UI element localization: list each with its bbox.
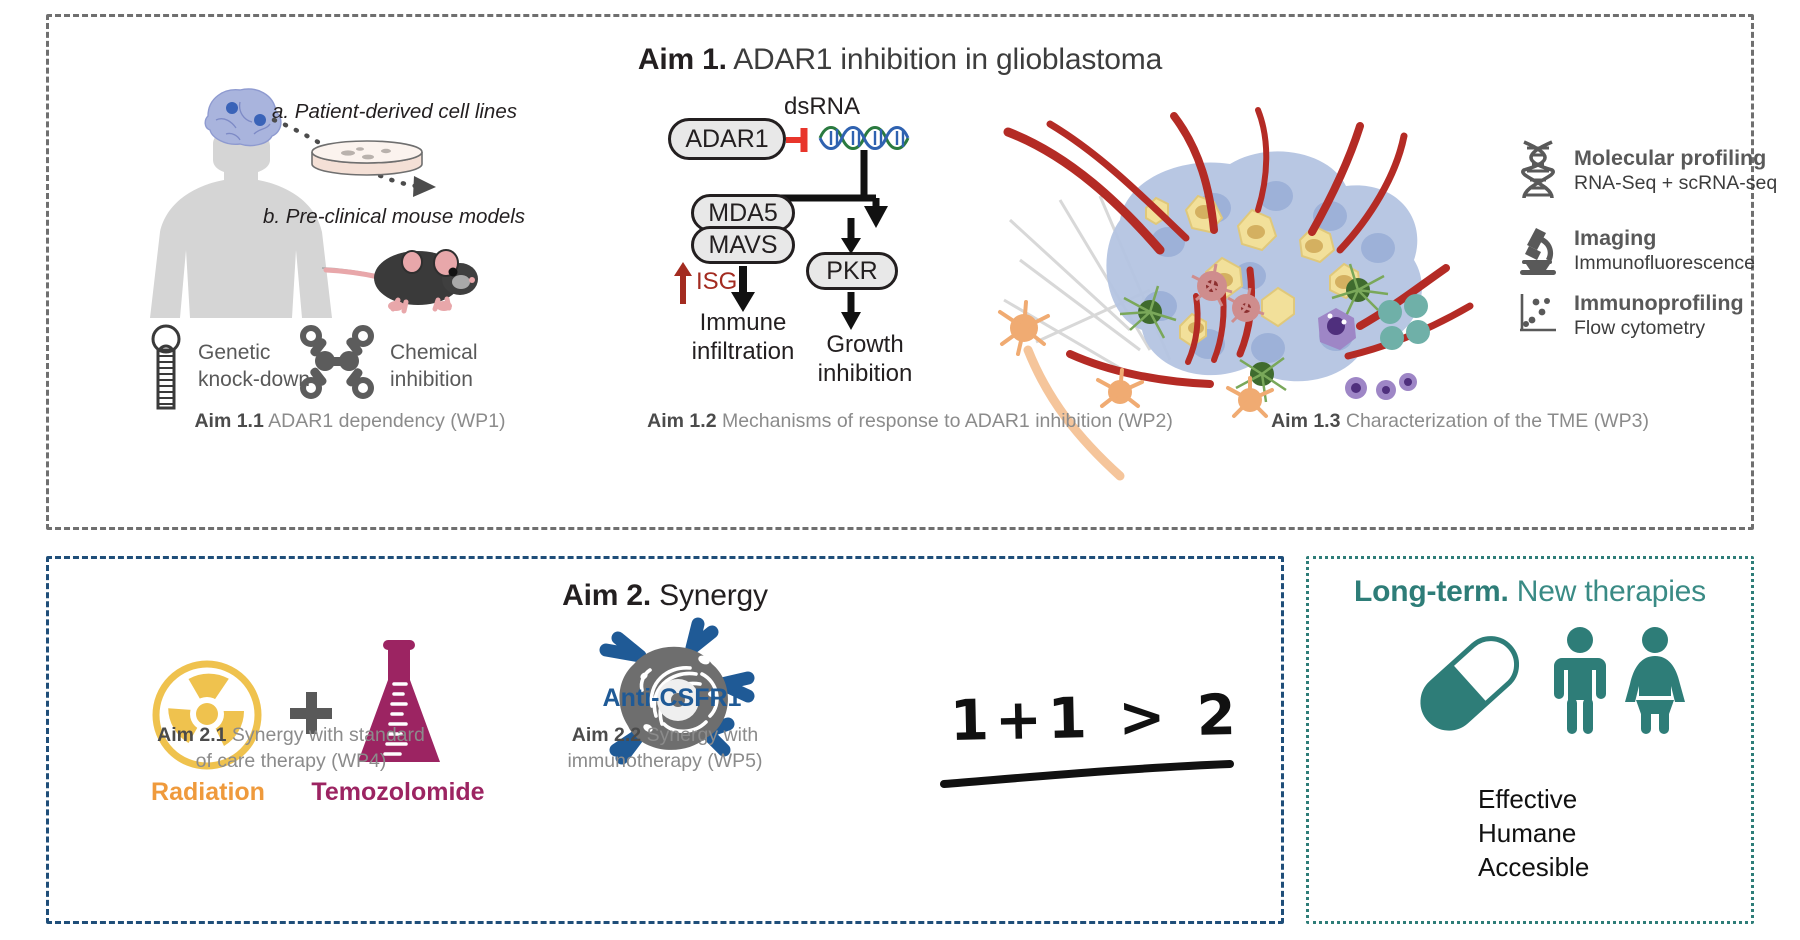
caption-aim-2-2: Aim 2.2 Synergy with immunotherapy (WP5) bbox=[500, 722, 830, 774]
panel-aim2-title-rest: Synergy bbox=[651, 579, 768, 612]
female-figure-icon bbox=[1622, 626, 1688, 736]
mouse-icon bbox=[320, 238, 480, 310]
panel-longterm-title-rest: New therapies bbox=[1509, 575, 1706, 608]
arrow-pkr-to-growth bbox=[836, 292, 868, 332]
pill-capsule-icon bbox=[1414, 636, 1524, 732]
label-radiation: Radiation bbox=[110, 778, 306, 807]
node-mavs: MAVS bbox=[691, 226, 795, 264]
profiling-subtitle-molecular: RNA-Seq + scRNA-seq bbox=[1574, 171, 1777, 195]
profiling-row-immunoprofiling: Immunoprofiling Flow cytometry bbox=[1518, 290, 1744, 340]
method-label-genetic-knockdown: Genetic knock-down bbox=[198, 339, 310, 393]
label-temozolomide: Temozolomide bbox=[290, 778, 506, 807]
panel-aim1-title: Aim 1. ADAR1 inhibition in glioblastoma bbox=[49, 43, 1751, 77]
arrow-to-pkr bbox=[836, 218, 868, 256]
caption-aim-1-2: Aim 1.2 Mechanisms of response to ADAR1 … bbox=[600, 408, 1220, 434]
profiling-title-imaging: Imaging bbox=[1574, 226, 1755, 251]
label-dsrna: dsRNA bbox=[742, 92, 902, 121]
hairpin-rna-icon bbox=[148, 318, 184, 410]
panel-aim1-title-rest: ADAR1 inhibition in glioblastoma bbox=[727, 43, 1162, 76]
label-isg: ISG bbox=[696, 268, 737, 296]
petri-dish-icon bbox=[308, 140, 426, 188]
longterm-word-effective: Effective bbox=[1478, 782, 1589, 816]
dna-helix-icon bbox=[1518, 140, 1558, 200]
caption-aim-2-1: Aim 2.1 Synergy with standard of care th… bbox=[96, 722, 486, 774]
caption-aim-1-1: Aim 1.1 ADAR1 dependency (WP1) bbox=[60, 408, 640, 434]
panel-aim1-title-bold: Aim 1. bbox=[638, 43, 727, 76]
profiling-row-imaging: Imaging Immunofluorescence bbox=[1518, 224, 1755, 276]
profiling-subtitle-imaging: Immunofluorescence bbox=[1574, 251, 1755, 275]
panel-longterm-title: Long-term. New therapies bbox=[1309, 575, 1751, 609]
microscope-icon bbox=[1518, 224, 1558, 276]
equation-underline bbox=[940, 758, 1240, 790]
flow-cytometry-icon bbox=[1518, 290, 1558, 340]
panel-aim2-title-bold: Aim 2. bbox=[562, 579, 651, 612]
profiling-title-immunoprofiling: Immunoprofiling bbox=[1574, 291, 1744, 316]
longterm-word-accesible: Accesible bbox=[1478, 850, 1589, 884]
profiling-title-molecular: Molecular profiling bbox=[1574, 146, 1777, 171]
equation-synergy: 1+1 > 2 bbox=[949, 683, 1242, 754]
method-label-chemical-inhibition: Chemical inhibition bbox=[390, 339, 478, 393]
longterm-word-humane: Humane bbox=[1478, 816, 1589, 850]
node-pkr: PKR bbox=[806, 252, 898, 290]
profiling-subtitle-immunoprofiling: Flow cytometry bbox=[1574, 316, 1744, 340]
tumor-microenvironment-illustration bbox=[1000, 100, 1500, 390]
sublabel-b-preclinical-mouse-models: b. Pre-clinical mouse models bbox=[263, 205, 525, 229]
panel-aim2-title: Aim 2. Synergy bbox=[49, 579, 1281, 613]
figure-canvas: Aim 1. ADAR1 inhibition in glioblastoma … bbox=[0, 0, 1800, 940]
caption-aim-1-3: Aim 1.3 Characterization of the TME (WP3… bbox=[1180, 408, 1740, 434]
longterm-word-list: Effective Humane Accesible bbox=[1478, 782, 1589, 884]
profiling-row-molecular: Molecular profiling RNA-Seq + scRNA-seq bbox=[1518, 140, 1777, 200]
isg-up-arrow-icon bbox=[672, 262, 694, 304]
label-growth-inhibition: Growth inhibition bbox=[770, 330, 960, 388]
male-figure-icon bbox=[1550, 626, 1610, 736]
sublabel-a-patient-derived-cell-lines: a. Patient-derived cell lines bbox=[272, 100, 517, 124]
panel-longterm-title-bold: Long-term. bbox=[1354, 575, 1509, 608]
label-anti-csfr1: Anti-CSFR1 bbox=[562, 684, 782, 713]
small-molecule-icon bbox=[300, 325, 374, 401]
